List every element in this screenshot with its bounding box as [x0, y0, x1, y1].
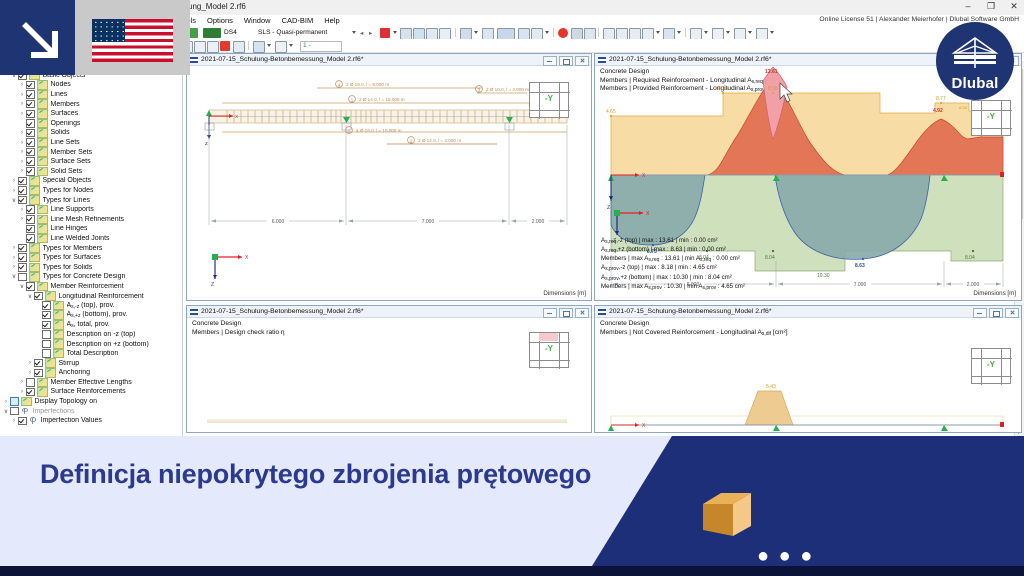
object-icon — [21, 397, 32, 407]
tree-item-label: As, total, prov. — [67, 321, 110, 329]
tree-item[interactable]: ›Display Topology on — [0, 397, 172, 407]
tree-item-checkbox[interactable] — [42, 349, 51, 358]
object-icon — [37, 147, 48, 157]
model-tree[interactable]: ∨Model∨Basic Objects›Nodes›Lines›Members… — [0, 61, 172, 426]
tree-item-checkbox[interactable] — [26, 119, 35, 128]
viewport-design-check[interactable]: 2021-07-15_Schulung-Betonbemessung_Model… — [186, 305, 592, 433]
tree-item[interactable]: Total Description — [0, 349, 172, 359]
tree-item-checkbox[interactable] — [42, 301, 51, 310]
svg-text:2.000: 2.000 — [532, 219, 545, 225]
internal-forces-icon[interactable] — [426, 28, 438, 40]
svg-text:13.61: 13.61 — [765, 69, 778, 75]
tree-item-checkbox[interactable] — [42, 311, 51, 320]
object-icon — [53, 301, 64, 311]
object-icon — [53, 310, 64, 320]
window-controls[interactable]: – ❐ ✕ — [962, 1, 1020, 11]
flag-overlay — [75, 0, 190, 75]
svg-text:Z: Z — [607, 205, 610, 211]
move-z-icon[interactable] — [629, 28, 641, 40]
object-icon — [37, 99, 48, 109]
chevron-down-icon[interactable]: ∨ — [26, 293, 34, 300]
chevron-down-icon[interactable] — [677, 31, 681, 34]
tree-item-checkbox[interactable] — [34, 292, 43, 301]
tree-item[interactable]: As, total, prov. — [0, 320, 172, 330]
chevron-down-icon[interactable] — [545, 31, 549, 34]
model-icon[interactable] — [460, 28, 472, 40]
tree-item-checkbox[interactable] — [26, 157, 35, 166]
tree-item-label: Line Supports — [51, 206, 94, 213]
result-line: As,req,-z (top) | max : 13.61 | min : 0.… — [601, 237, 745, 246]
tree-item-checkbox[interactable] — [18, 177, 27, 186]
deformation-icon[interactable] — [413, 28, 425, 40]
dimensions-label: Dimensions [m] — [543, 290, 586, 297]
tree-item-checkbox[interactable] — [18, 244, 27, 253]
chevron-right-icon[interactable]: › — [10, 245, 18, 251]
result-line: Members | max As,prov : 10.30 | min As,p… — [601, 283, 745, 292]
object-icon — [53, 320, 64, 330]
svg-text:8.04: 8.04 — [959, 105, 968, 110]
svg-text:2 Ø 12.0, l = 4.000 m: 2 Ø 12.0, l = 4.000 m — [418, 138, 461, 143]
tree-item[interactable]: Openings — [0, 119, 172, 129]
design-situation-tag: DS4 — [224, 29, 237, 36]
tree-item-label: Longitudinal Reinforcement — [59, 293, 144, 300]
chevron-right-icon[interactable]: › — [18, 101, 26, 107]
minimize-icon[interactable]: – — [962, 1, 974, 11]
result-line: As,prov,-z (top) | max : 8.18 | min : 4.… — [601, 264, 745, 273]
tree-item[interactable]: ›Special Objects — [0, 176, 172, 186]
chevron-right-icon[interactable]: › — [18, 82, 26, 88]
tree-item-label: Surface Sets — [51, 158, 91, 165]
filter-icon[interactable] — [584, 28, 596, 40]
chevron-down-icon[interactable] — [267, 44, 271, 47]
numbering-icon[interactable] — [497, 28, 515, 40]
tree-item-label: Solid Sets — [51, 168, 83, 175]
viewport-title: 2021-07-15_Schulung-Betonbemessung_Model… — [201, 56, 363, 63]
tree-item-label: Stirrup — [59, 360, 80, 367]
menu-item-cadbim[interactable]: CAD-BIM — [282, 16, 314, 25]
move-xyz-icon[interactable] — [642, 28, 654, 40]
chevron-right-icon[interactable]: › — [18, 92, 26, 98]
object-icon — [45, 358, 56, 368]
dimensions-label: Dimensions [m] — [973, 290, 1016, 297]
viewport-close-icon[interactable] — [1005, 308, 1019, 318]
tree-item-checkbox[interactable] — [26, 282, 35, 291]
svg-text:1: 1 — [348, 128, 351, 133]
object-icon — [37, 234, 48, 244]
tree-item-checkbox[interactable] — [26, 225, 35, 234]
viewport-title: 2021-07-15_Schulung-Betonbemessung_Model… — [609, 56, 771, 63]
view-cube-label: -Y — [529, 94, 569, 103]
tree-item-label: Types for Lines — [43, 197, 90, 204]
chevron-right-icon[interactable]: › — [2, 399, 10, 405]
svg-text:5.43: 5.43 — [766, 384, 776, 390]
tree-item[interactable]: ›Line Sets — [0, 138, 172, 148]
tree-item-label: Special Objects — [43, 177, 92, 184]
tree-item[interactable]: ›Solid Sets — [0, 167, 172, 177]
tree-item-checkbox[interactable] — [42, 340, 51, 349]
imperfection-icon — [21, 407, 30, 415]
chevron-down-icon[interactable]: ∨ — [10, 197, 18, 204]
tree-item-label: Member Reinforcement — [51, 283, 124, 290]
svg-text:Z: Z — [211, 282, 214, 288]
chevron-right-icon[interactable]: › — [10, 178, 18, 184]
object-icon — [53, 349, 64, 359]
tree-item[interactable]: ›Imperfection Values — [0, 416, 172, 426]
application-window: bemessung_Model 2.rf6 – ❐ ✕ lts Tools Op… — [0, 0, 1024, 576]
object-icon — [29, 243, 40, 253]
tree-item[interactable]: ›Member Sets — [0, 147, 172, 157]
tree-item-label: Line Welded Joints — [51, 235, 110, 242]
image-icon[interactable] — [253, 41, 265, 53]
object-icon — [45, 291, 56, 301]
prev-case-icon[interactable]: ◂ — [360, 29, 363, 37]
tree-item[interactable]: ›Surfaces — [0, 109, 172, 119]
tree-item[interactable]: ∨Types for Lines — [0, 195, 172, 205]
select-icon[interactable] — [558, 28, 568, 38]
svg-text:2 Ø 14.0, l = 15.000 m: 2 Ø 14.0, l = 15.000 m — [359, 97, 405, 102]
mesh-icon[interactable] — [482, 28, 494, 40]
chevron-down-icon[interactable] — [393, 31, 397, 34]
viewport-title: 2021-07-15_Schulung-Betonbemessung_Model… — [609, 308, 771, 315]
object-icon — [37, 128, 48, 138]
bottom-banner: Definicja niepokrytego zbrojenia prętowe… — [0, 436, 1024, 576]
tree-item-label: Line Mesh Refinements — [51, 216, 125, 223]
tree-item[interactable]: ›Anchoring — [0, 368, 172, 378]
document-icon — [598, 309, 606, 315]
viewport-maximize-icon[interactable] — [559, 56, 573, 66]
close-icon[interactable]: ✕ — [1008, 1, 1020, 11]
menu-item-window[interactable]: Window — [244, 16, 271, 25]
tree-item-checkbox[interactable] — [26, 100, 35, 109]
tree-item-label: Line Sets — [51, 139, 80, 146]
tree-item-label: Openings — [51, 120, 81, 127]
object-icon — [37, 90, 48, 100]
tree-item[interactable]: ›Types for Nodes — [0, 186, 172, 196]
viewport-window-controls[interactable] — [543, 56, 589, 66]
chevron-down-icon[interactable] — [656, 31, 660, 34]
dlubal-mark-icon — [951, 36, 999, 70]
tree-item-checkbox[interactable] — [10, 407, 19, 416]
tree-item-checkbox[interactable] — [26, 167, 35, 176]
object-icon — [37, 157, 48, 167]
tree-item[interactable]: ∨Imperfections — [0, 406, 172, 416]
object-icon — [53, 339, 64, 349]
tree-item-checkbox[interactable] — [34, 369, 43, 378]
zoom-value: 1 - — [303, 42, 311, 49]
svg-text:8.04: 8.04 — [965, 255, 975, 261]
visibility-icon[interactable] — [690, 28, 702, 40]
tree-item-label: Lines — [51, 91, 68, 98]
tree-item[interactable]: ›Types for Solids — [0, 262, 172, 272]
tree-item[interactable]: As,+z (bottom), prov. — [0, 310, 172, 320]
view-cube-label: -Y — [971, 112, 1011, 121]
tree-item[interactable]: ∨Longitudinal Reinforcement — [0, 291, 172, 301]
tree-item-checkbox[interactable] — [26, 388, 35, 397]
tree-item-checkbox[interactable] — [34, 359, 43, 368]
object-icon — [37, 378, 48, 388]
object-icon — [37, 138, 48, 148]
tree-item[interactable]: ›Types for Surfaces — [0, 253, 172, 263]
tree-item[interactable]: As,-z (top), prov. — [0, 301, 172, 311]
tree-item-checkbox[interactable] — [26, 110, 35, 119]
object-icon — [29, 195, 40, 205]
chevron-down-icon[interactable] — [770, 31, 774, 34]
result-line: As,req,+z (bottom) | max : 8.63 | min : … — [601, 246, 745, 255]
tree-item[interactable]: ›Lines — [0, 90, 172, 100]
chevron-right-icon[interactable]: › — [18, 379, 26, 385]
chevron-right-icon[interactable]: › — [26, 370, 34, 376]
toolbar-separator — [248, 41, 249, 50]
svg-text:8.77: 8.77 — [936, 96, 946, 102]
viewport-minimize-icon[interactable] — [543, 308, 557, 318]
chevron-right-icon[interactable]: › — [18, 207, 26, 213]
view-cube[interactable]: -Y — [529, 82, 569, 118]
viewport-close-icon[interactable] — [575, 308, 589, 318]
tree-item[interactable]: Line Hinges — [0, 224, 172, 234]
viewport-window-controls[interactable] — [973, 308, 1019, 318]
tree-item[interactable]: ›Nodes — [0, 80, 172, 90]
usa-flag-icon — [92, 19, 173, 62]
object-icon — [37, 215, 48, 225]
load-case-dropdown-icon[interactable] — [352, 31, 356, 34]
flag-canton — [92, 19, 125, 42]
chevron-right-icon[interactable]: › — [10, 418, 18, 424]
viewport-model[interactable]: 2021-07-15_Schulung-Betonbemessung_Model… — [186, 53, 592, 301]
tree-item-checkbox[interactable] — [26, 215, 35, 224]
tree-item[interactable]: ›Surface Sets — [0, 157, 172, 167]
svg-text:X: X — [642, 423, 646, 429]
hide-icon[interactable] — [712, 28, 724, 40]
view-cube[interactable]: -Y — [971, 100, 1011, 136]
maximize-icon[interactable]: ❐ — [985, 1, 997, 11]
tree-item-checkbox[interactable] — [42, 321, 51, 330]
object-snap-icon[interactable] — [531, 28, 543, 40]
viewport-minimize-icon[interactable] — [973, 308, 987, 318]
chevron-right-icon[interactable]: › — [10, 188, 18, 194]
tree-item-label: Display Topology on — [35, 398, 98, 405]
dlubal-wordmark: Dlubal — [936, 75, 1014, 92]
tree-item-label: Line Hinges — [51, 225, 88, 232]
chevron-right-icon[interactable]: › — [18, 168, 26, 174]
chevron-down-icon[interactable]: ∨ — [18, 283, 26, 290]
tree-item-label: Solids — [51, 129, 70, 136]
chevron-right-icon[interactable]: › — [18, 111, 26, 117]
view-cube-label: -Y — [971, 360, 1011, 369]
view-cube[interactable]: -Y — [971, 348, 1011, 384]
menu-item-options[interactable]: Options — [207, 16, 233, 25]
move-x-icon[interactable] — [603, 28, 615, 40]
tree-item[interactable]: ›Types for Members — [0, 243, 172, 253]
tree-item[interactable]: ›Line Supports — [0, 205, 172, 215]
tree-item[interactable]: ›Solids — [0, 128, 172, 138]
tree-item[interactable]: ›Members — [0, 99, 172, 109]
imperfection-icon — [29, 417, 38, 425]
tree-item-label: Types for Concrete Design — [43, 273, 126, 280]
svg-text:7.000: 7.000 — [854, 282, 867, 288]
svg-text:8.18: 8.18 — [768, 86, 778, 92]
object-icon — [37, 224, 48, 234]
object-icon — [29, 263, 40, 273]
svg-text:1: 1 — [351, 97, 354, 102]
svg-text:2 Ø 19.0, l = 6.000 m: 2 Ø 19.0, l = 6.000 m — [346, 82, 389, 87]
view-cube-label: -Y — [529, 344, 569, 353]
document-icon — [598, 57, 606, 63]
tree-item-label: Types for Nodes — [43, 187, 94, 194]
tree-item-checkbox[interactable] — [18, 417, 27, 426]
tree-item-label: Imperfections — [33, 408, 75, 415]
svg-text:10.30: 10.30 — [817, 273, 830, 279]
banner-title: Definicja niepokrytego zbrojenia prętowe… — [40, 456, 620, 493]
screenshot-icon[interactable] — [233, 41, 245, 53]
tree-item-label: As,+z (bottom), prov. — [67, 311, 128, 319]
delete-icon[interactable] — [220, 41, 230, 51]
view-cube[interactable]: -Y — [529, 332, 569, 368]
result-line: As,prov,+z (bottom) | max : 10.30 | min … — [601, 274, 745, 283]
tree-item[interactable]: ∨Member Reinforcement — [0, 282, 172, 292]
tree-item-checkbox[interactable] — [18, 273, 27, 282]
object-icon — [37, 167, 48, 177]
tree-item-checkbox[interactable] — [26, 148, 35, 157]
menu-item-help[interactable]: Help — [324, 16, 339, 25]
design-situation-icon[interactable] — [203, 28, 221, 38]
view-cube-highlight — [539, 333, 558, 341]
chevron-right-icon[interactable]: › — [18, 389, 26, 395]
tree-item[interactable]: ›Member Effective Lengths — [0, 378, 172, 388]
tree-item-checkbox[interactable] — [26, 378, 35, 387]
tree-item[interactable]: ∨Types for Concrete Design — [0, 272, 172, 282]
tree-item-checkbox[interactable] — [26, 81, 35, 90]
svg-text:4.65: 4.65 — [606, 109, 616, 115]
load-case-label[interactable]: SLS - Quasi-permanent — [258, 29, 327, 36]
chevron-down-icon[interactable] — [726, 31, 730, 34]
object-icon — [45, 368, 56, 378]
svg-text:8.63: 8.63 — [855, 263, 865, 269]
chevron-down-icon[interactable]: ∨ — [10, 273, 18, 280]
chevron-right-icon[interactable]: › — [18, 216, 26, 222]
move-y-icon[interactable] — [616, 28, 628, 40]
viewport-maximize-icon[interactable] — [559, 308, 573, 318]
flag-stars — [92, 19, 125, 42]
toolbar-separator — [598, 28, 599, 37]
group-icon[interactable] — [734, 28, 746, 40]
toolbar-separator — [553, 28, 554, 37]
object-icon — [37, 205, 48, 215]
object-icon — [29, 253, 40, 263]
object-icon — [53, 330, 64, 340]
chevron-right-icon[interactable]: › — [18, 159, 26, 165]
tree-item[interactable]: ›Surface Reinforcements — [0, 387, 172, 397]
tree-item-label: Nodes — [51, 81, 71, 88]
svg-text:X: X — [245, 255, 249, 261]
measure-icon[interactable] — [275, 41, 287, 53]
svg-text:6.000: 6.000 — [272, 219, 285, 225]
tree-item-label: Surfaces — [51, 110, 79, 117]
svg-text:4: 4 — [338, 82, 341, 87]
tree-item-label: As,-z (top), prov. — [67, 302, 115, 310]
tree-item-checkbox[interactable] — [26, 129, 35, 138]
svg-text:2: 2 — [410, 138, 413, 143]
tree-item-checkbox[interactable] — [18, 186, 27, 195]
tree-item-label: Total Description — [67, 350, 119, 357]
chevron-down-icon[interactable] — [474, 31, 478, 34]
toolbar-separator — [685, 28, 686, 37]
viewport-not-covered[interactable]: 2021-07-15_Schulung-Betonbemessung_Model… — [594, 305, 1022, 433]
snap-icon[interactable] — [518, 28, 530, 40]
navigator-panel: ∨Model∨Basic Objects›Nodes›Lines›Members… — [0, 52, 183, 436]
viewport-title: 2021-07-15_Schulung-Betonbemessung_Model… — [201, 308, 363, 315]
chevron-down-icon[interactable] — [704, 31, 708, 34]
viewport-window-controls[interactable] — [543, 308, 589, 318]
tree-item[interactable]: Description on -z (top) — [0, 330, 172, 340]
tree-item-label: Description on -z (top) — [67, 331, 136, 338]
viewport-minimize-icon[interactable] — [543, 56, 557, 66]
tree-item-label: Anchoring — [59, 369, 91, 376]
arrow-down-right-icon — [0, 0, 75, 75]
tree-item[interactable]: Description on +z (bottom) — [0, 339, 172, 349]
text-icon[interactable] — [194, 41, 206, 53]
stress-icon[interactable] — [439, 28, 451, 40]
tree-item-checkbox[interactable] — [26, 205, 35, 214]
box-select-icon[interactable] — [571, 28, 583, 40]
load-icon[interactable] — [400, 28, 412, 40]
tree-item[interactable]: ›Stirrup — [0, 358, 172, 368]
tree-item[interactable]: ›Line Mesh Refinements — [0, 215, 172, 225]
tree-item[interactable]: Line Welded Joints — [0, 234, 172, 244]
chevron-down-icon[interactable] — [289, 44, 293, 47]
object-icon — [37, 282, 48, 292]
svg-text:8.04: 8.04 — [765, 255, 775, 261]
chevron-right-icon[interactable]: › — [26, 360, 34, 366]
not-covered-drawing[interactable]: 5.43 X — [595, 317, 1021, 432]
layer-icon[interactable] — [756, 28, 768, 40]
tree-item-label: Types for Surfaces — [43, 254, 101, 261]
viewport-close-icon[interactable] — [575, 56, 589, 66]
tree-item-label: Surface Reinforcements — [51, 388, 126, 395]
tree-item-label: Types for Solids — [43, 264, 93, 271]
tree-item-checkbox[interactable] — [42, 330, 51, 339]
object-icon — [37, 80, 48, 90]
tree-item-checkbox[interactable] — [26, 90, 35, 99]
object-icon — [29, 272, 40, 282]
license-info: Online License 51 | Alexander Meierhofer… — [819, 16, 1019, 23]
next-case-icon[interactable]: ▸ — [369, 29, 372, 37]
chevron-right-icon[interactable]: › — [18, 149, 26, 155]
result-line: Members | max As,req : 13.61 | min As,re… — [601, 255, 745, 264]
toolbar-separator — [455, 28, 456, 37]
tree-item-checkbox[interactable] — [18, 253, 27, 262]
tree-item-checkbox[interactable] — [18, 263, 27, 272]
tree-item-label: Members — [51, 101, 80, 108]
chevron-down-icon[interactable] — [748, 31, 752, 34]
chevron-right-icon[interactable]: › — [18, 140, 26, 146]
chevron-down-icon[interactable]: ∨ — [2, 408, 10, 415]
tree-item-checkbox[interactable] — [26, 234, 35, 243]
chevron-right-icon[interactable]: › — [10, 255, 18, 261]
warning-icon[interactable] — [207, 41, 219, 53]
tree-item-checkbox[interactable] — [10, 397, 19, 406]
tree-item-checkbox[interactable] — [26, 138, 35, 147]
rotate-icon[interactable] — [663, 28, 675, 40]
tree-item-label: Member Sets — [51, 149, 93, 156]
tree-item-checkbox[interactable] — [18, 196, 27, 205]
tree-item-label: Types for Members — [43, 245, 103, 252]
chevron-right-icon[interactable]: › — [18, 130, 26, 136]
chevron-right-icon[interactable]: › — [10, 264, 18, 270]
tree-item-label: Imperfection Values — [41, 417, 102, 424]
svg-text:8.18: 8.18 — [718, 86, 728, 92]
viewport-maximize-icon[interactable] — [989, 308, 1003, 318]
support-icon[interactable] — [380, 28, 390, 38]
